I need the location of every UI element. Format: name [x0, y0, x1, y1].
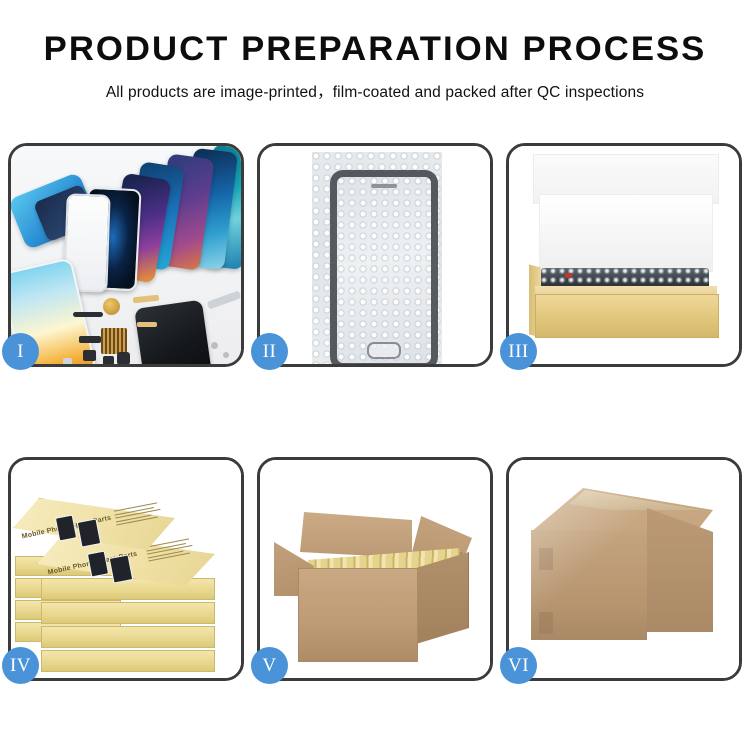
- part-tool-tweezers: [207, 290, 241, 309]
- step-panel-4[interactable]: Mobile Phone Spare Parts Mobile Phone Sp…: [8, 457, 244, 681]
- carton-flap-back: [300, 512, 412, 560]
- step-badge-1: I: [2, 333, 39, 370]
- stack-box-right-4: [41, 650, 215, 672]
- page-header: PRODUCT PREPARATION PROCESS All products…: [0, 0, 750, 102]
- step-panel-5[interactable]: V: [257, 457, 493, 681]
- step-image-5: [260, 460, 490, 678]
- step-panel-2[interactable]: II: [257, 143, 493, 367]
- phone-logic-board: [134, 300, 212, 364]
- part-ic: [103, 356, 114, 364]
- step-image-2: [260, 146, 490, 364]
- part-flex-b: [133, 295, 159, 304]
- carton-front-wall: [298, 568, 418, 662]
- part-speaker: [103, 298, 120, 315]
- step-badge-6: VI: [500, 647, 537, 684]
- part-button: [117, 352, 130, 364]
- step-image-6: [509, 460, 739, 678]
- page-subtitle: All products are image-printed，film-coat…: [0, 80, 750, 102]
- home-button-slot: [367, 342, 401, 359]
- step-panel-6[interactable]: VI: [506, 457, 742, 681]
- sealed-carton-illustration: [509, 460, 739, 678]
- step-badge-3: III: [500, 333, 537, 370]
- step-panel-3[interactable]: III: [506, 143, 742, 367]
- step-badge-2: II: [251, 333, 288, 370]
- page-title: PRODUCT PREPARATION PROCESS: [0, 32, 750, 68]
- part-screw-2: [223, 352, 229, 358]
- step-image-4: Mobile Phone Spare Parts Mobile Phone Sp…: [11, 460, 241, 678]
- bubble-wrap-sheet: [312, 152, 442, 364]
- step-image-3: [509, 146, 739, 364]
- part-connector-grid: [101, 328, 127, 354]
- stack-box-right-3: [41, 626, 215, 648]
- open-carton-illustration: [260, 460, 490, 678]
- inner-box-illustration: [509, 146, 739, 364]
- process-steps-grid: I II: [8, 143, 742, 681]
- carton-seam-lower: [539, 612, 553, 634]
- step-badge-5: V: [251, 647, 288, 684]
- step-image-1: [11, 146, 241, 364]
- foam-padding: [539, 194, 713, 272]
- bubble-wrap-illustration: [260, 146, 490, 364]
- carton-side-right: [416, 552, 469, 644]
- screen-marker: [565, 273, 572, 278]
- carton-right-face: [647, 508, 713, 632]
- part-screw-1: [211, 342, 218, 349]
- phone-glass-panel: [330, 170, 438, 364]
- step-panel-1[interactable]: I: [8, 143, 244, 367]
- earpiece-slot: [371, 184, 397, 188]
- stack-box-right-2: [41, 602, 215, 624]
- product-range-illustration: [11, 146, 241, 364]
- box-stack-illustration: Mobile Phone Spare Parts Mobile Phone Sp…: [11, 460, 241, 678]
- part-sim-tray: [63, 358, 72, 364]
- box-front-wall: [535, 294, 719, 338]
- step-badge-4: IV: [2, 647, 39, 684]
- part-flex-a: [79, 336, 101, 343]
- part-antenna: [73, 312, 103, 317]
- part-flex-c: [137, 322, 157, 327]
- part-camera: [83, 350, 96, 361]
- carton-seam-upper: [539, 548, 553, 570]
